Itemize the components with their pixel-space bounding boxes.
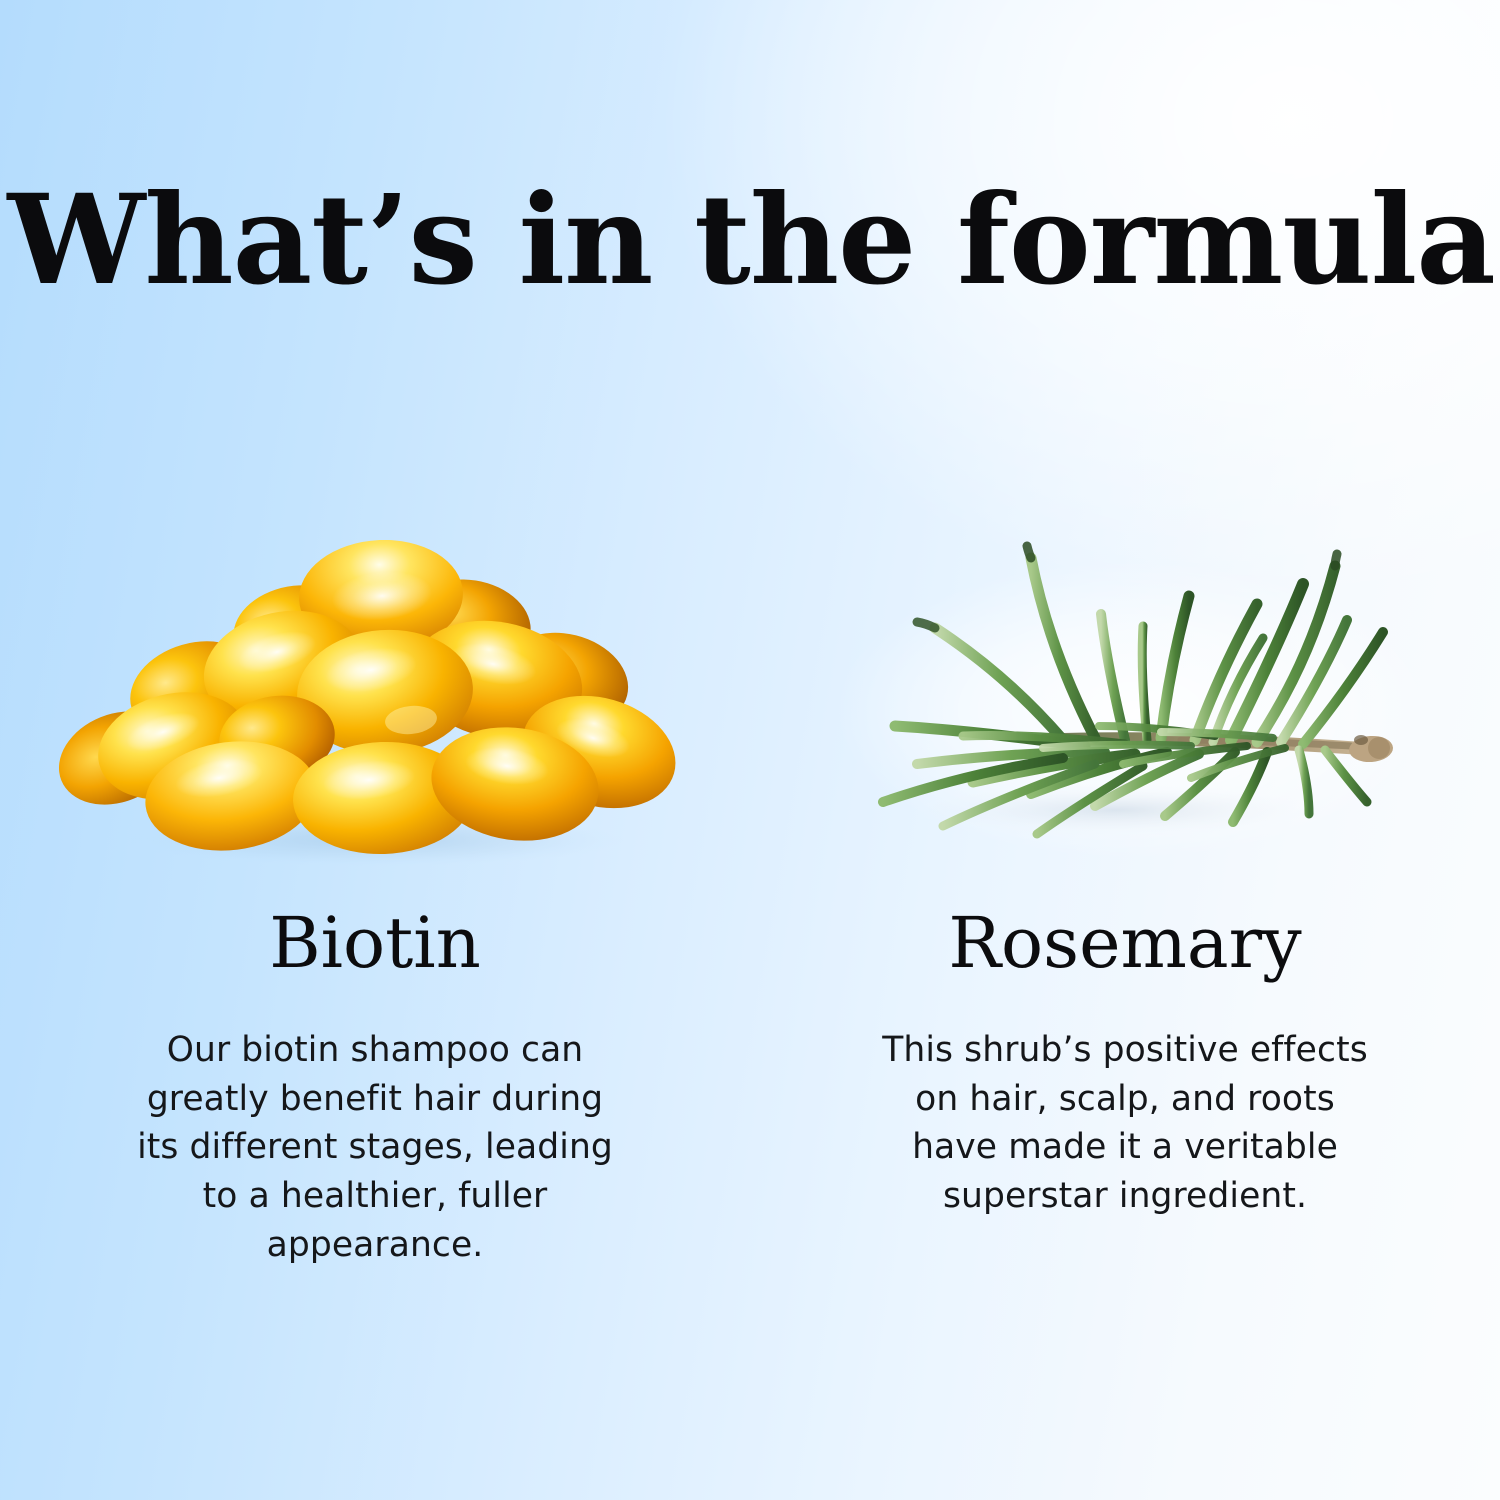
ingredient-name-biotin: Biotin bbox=[269, 908, 481, 978]
ingredient-description-rosemary: This shrub’s positive effects on hair, s… bbox=[870, 1026, 1380, 1221]
ingredient-card-biotin: Biotin Our biotin shampoo can greatly be… bbox=[0, 470, 750, 1300]
ingredient-card-rosemary: Rosemary This shrub’s positive effects o… bbox=[750, 470, 1500, 1300]
rosemary-sprig-image bbox=[795, 470, 1455, 870]
ingredient-name-rosemary: Rosemary bbox=[948, 908, 1301, 978]
ingredient-description-biotin: Our biotin shampoo can greatly benefit h… bbox=[135, 1026, 615, 1269]
ingredient-columns: Biotin Our biotin shampoo can greatly be… bbox=[0, 470, 1500, 1300]
biotin-capsules-image bbox=[45, 470, 705, 870]
formula-ingredients-poster: What’s in the formula? bbox=[0, 0, 1500, 1500]
page-title: What’s in the formula? bbox=[8, 179, 1493, 303]
